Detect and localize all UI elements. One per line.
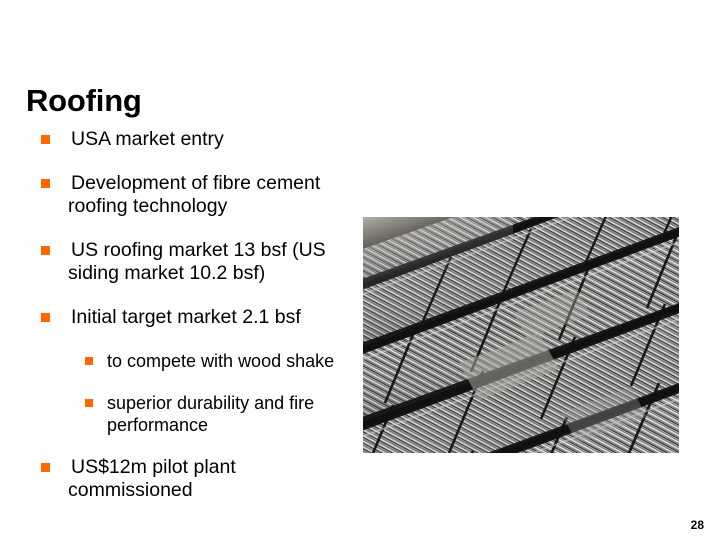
list-item-label: US roofing market 13 bsf (US siding mark… <box>68 239 350 285</box>
orange-square-bullet-icon <box>85 399 93 407</box>
list-item-label: Development of fibre cement roofing tech… <box>68 172 350 218</box>
list-item-label: USA market entry <box>68 128 350 151</box>
list-item: US$12m pilot plant commissioned <box>0 456 350 502</box>
page-title: Roofing <box>26 85 142 118</box>
bullet-list: USA market entry Development of fibre ce… <box>0 128 350 523</box>
orange-square-bullet-icon <box>85 357 93 365</box>
sub-bullet-list: to compete with wood shake superior dura… <box>0 350 350 436</box>
list-item-label: Initial target market 2.1 bsf <box>68 306 350 329</box>
list-item-label: to compete with wood shake <box>107 350 350 372</box>
orange-square-bullet-icon <box>41 463 50 472</box>
fibre-cement-roof-tiles-photo <box>363 217 679 453</box>
orange-square-bullet-icon <box>41 135 50 144</box>
list-item: to compete with wood shake <box>0 350 350 372</box>
list-item: Development of fibre cement roofing tech… <box>0 172 350 218</box>
roof-tiles-illustration <box>363 217 679 453</box>
list-item-label: superior durability and fire performance <box>107 392 350 436</box>
page-number: 28 <box>691 518 704 532</box>
orange-square-bullet-icon <box>41 179 50 188</box>
presentation-slide: Roofing USA market entry Development of … <box>0 0 720 540</box>
list-item: superior durability and fire performance <box>0 392 350 436</box>
orange-square-bullet-icon <box>41 313 50 322</box>
list-item: USA market entry <box>0 128 350 151</box>
list-item: US roofing market 13 bsf (US siding mark… <box>0 239 350 285</box>
orange-square-bullet-icon <box>41 246 50 255</box>
list-item-label: US$12m pilot plant commissioned <box>68 456 350 502</box>
list-item: Initial target market 2.1 bsf <box>0 306 350 329</box>
